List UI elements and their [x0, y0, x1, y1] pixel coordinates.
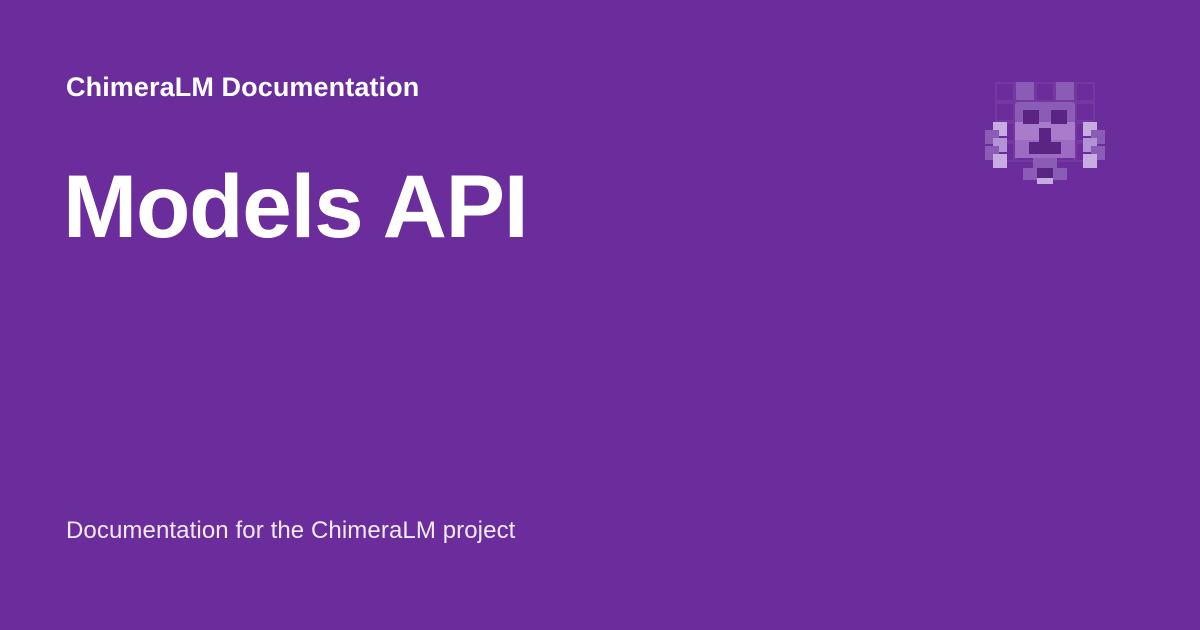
social-card: ChimeraLM Documentation Models API Docum…	[0, 0, 1200, 630]
site-eyebrow-title: ChimeraLM Documentation	[66, 72, 419, 103]
page-title: Models API	[63, 160, 527, 253]
pixel-robot-icon	[983, 80, 1107, 184]
page-subtitle: Documentation for the ChimeraLM project	[66, 517, 515, 545]
